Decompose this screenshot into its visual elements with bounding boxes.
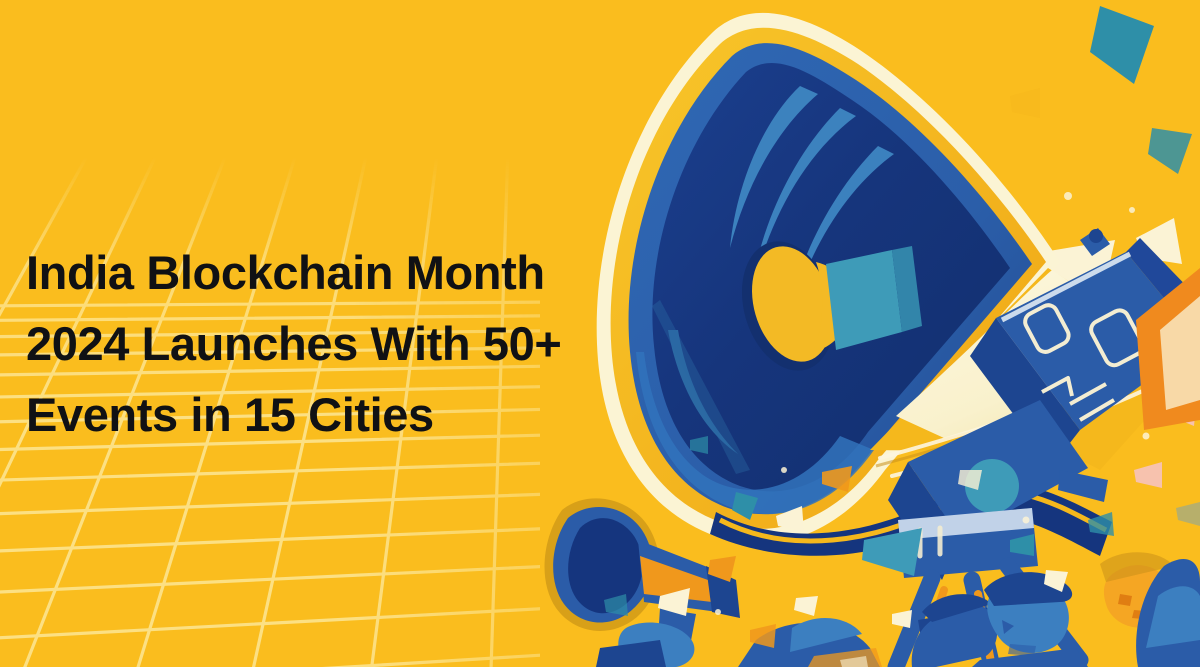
illustration-alt-text: Illustration of a large blue and gold me…: [0, 0, 1, 1]
megaphone-illustration: [540, 0, 1200, 667]
banner-headline: India Blockchain Month 2024 Launches Wit…: [26, 237, 626, 450]
promo-banner: India Blockchain Month 2024 Launches Wit…: [0, 0, 1200, 667]
